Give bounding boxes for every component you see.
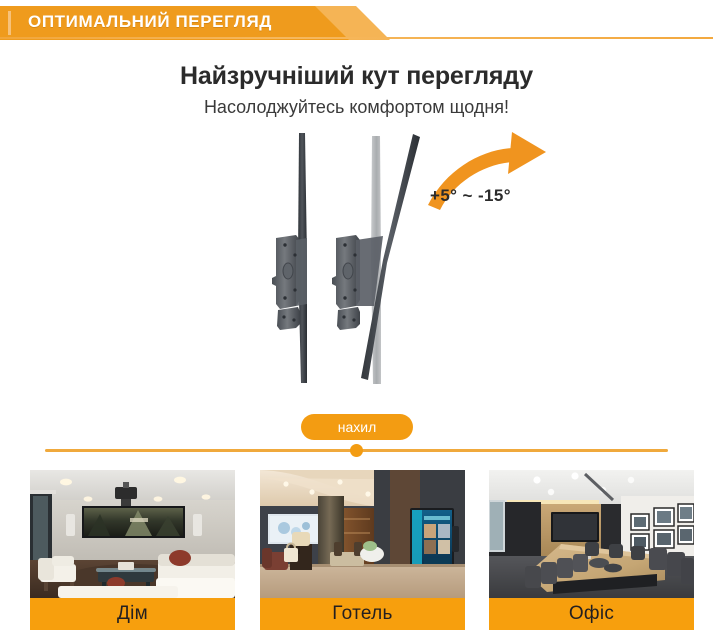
- tilt-angle-label: +5° ~ -15°: [430, 186, 511, 206]
- office-conference-room-photo: [489, 470, 694, 598]
- tilt-badge-label: нахил: [338, 419, 377, 435]
- banner-title: ОПТИМАЛЬНИЙ ПЕРЕГЛЯД: [28, 12, 272, 32]
- card-label-text: Офіс: [569, 603, 614, 625]
- card-label-text: Дім: [117, 603, 148, 625]
- use-case-card-label: Дім: [30, 598, 235, 630]
- header-divider-rule: [0, 37, 713, 39]
- use-case-cards: Дім: [0, 470, 713, 630]
- use-case-card-hotel[interactable]: Готель: [260, 470, 465, 630]
- banner-accent-notch: [8, 11, 11, 35]
- tv-mount-tilted: [332, 134, 420, 384]
- use-case-card-label: Готель: [260, 598, 465, 630]
- tv-mount-illustration: [250, 128, 590, 398]
- use-case-card-home[interactable]: Дім: [30, 470, 235, 630]
- card-label-text: Готель: [332, 603, 392, 625]
- page-title: Найзручніший кут перегляду: [0, 62, 713, 91]
- use-case-card-label: Офіс: [489, 598, 694, 630]
- tilt-badge: нахил: [301, 414, 413, 440]
- hotel-lobby-photo: [260, 470, 465, 598]
- use-case-card-office[interactable]: Офіс: [489, 470, 694, 630]
- tv-mount-straight: [272, 133, 307, 383]
- home-theater-living-room-photo: [30, 470, 235, 598]
- divider-center-dot: [350, 444, 363, 457]
- header-banner: ОПТИМАЛЬНИЙ ПЕРЕГЛЯД: [0, 6, 713, 40]
- page-subtitle: Насолоджуйтесь комфортом щодня!: [0, 97, 713, 118]
